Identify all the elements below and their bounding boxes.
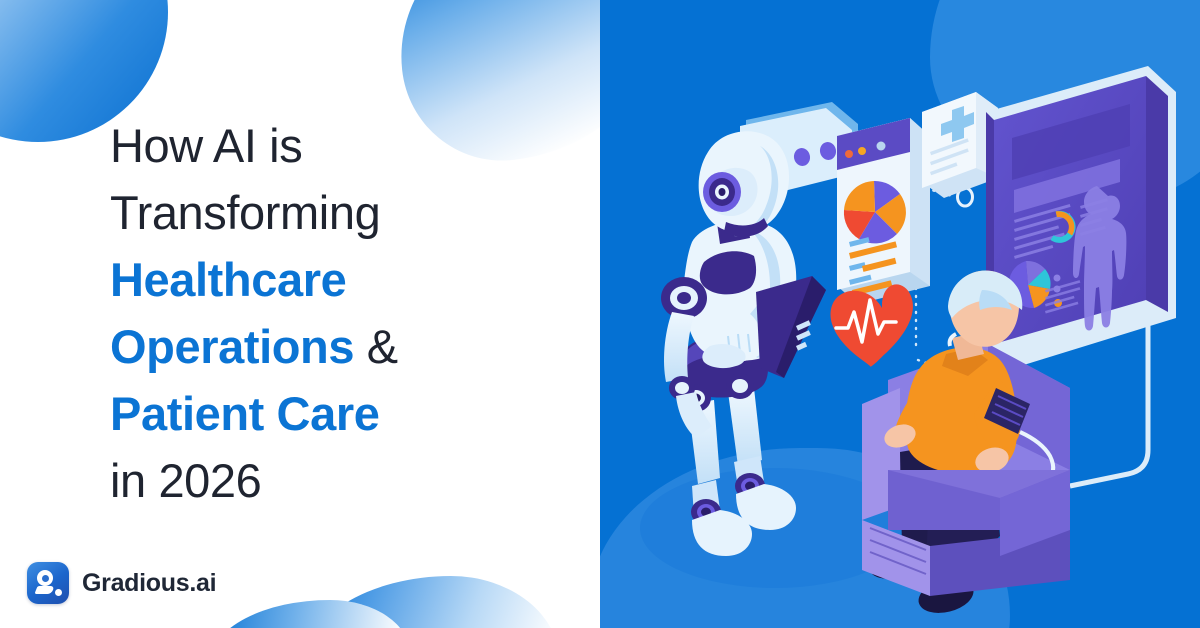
gradious-g-mark-icon <box>27 562 69 604</box>
g-hole-shape <box>42 575 49 582</box>
headline-line-3: Healthcare <box>110 246 580 313</box>
headline-line-1: How AI is <box>110 112 580 179</box>
analytics-card <box>837 118 930 304</box>
heart-rate-icon <box>830 284 912 366</box>
headline-line-4: Operations & <box>110 313 580 380</box>
right-illustration-panel <box>600 0 1200 628</box>
g-tail-shape <box>34 586 54 594</box>
card-dot-yellow <box>858 147 866 155</box>
isometric-ai-healthcare-scene <box>600 0 1200 628</box>
headline-line-5: Patient Care <box>110 380 580 447</box>
banner-root: How AI is Transforming Healthcare Operat… <box>0 0 1200 628</box>
page-title: How AI is Transforming Healthcare Operat… <box>110 112 580 514</box>
robot-tablet <box>756 276 826 378</box>
g-dot-shape <box>55 589 62 596</box>
card-dot-red <box>845 150 853 158</box>
analytics-pie-chart <box>844 181 906 243</box>
headline-line-6: in 2026 <box>110 447 580 514</box>
headline-line-4-text: Operations <box>110 320 354 373</box>
card-dot-blue <box>877 142 886 151</box>
brand-wordmark: Gradious.ai <box>82 569 216 598</box>
left-content-panel: How AI is Transforming Healthcare Operat… <box>0 0 600 628</box>
brand-logo[interactable]: Gradious.ai <box>27 562 216 604</box>
headline-ampersand: & <box>354 320 398 373</box>
humanoid-robot <box>661 131 826 556</box>
headline-line-2: Transforming <box>110 179 580 246</box>
